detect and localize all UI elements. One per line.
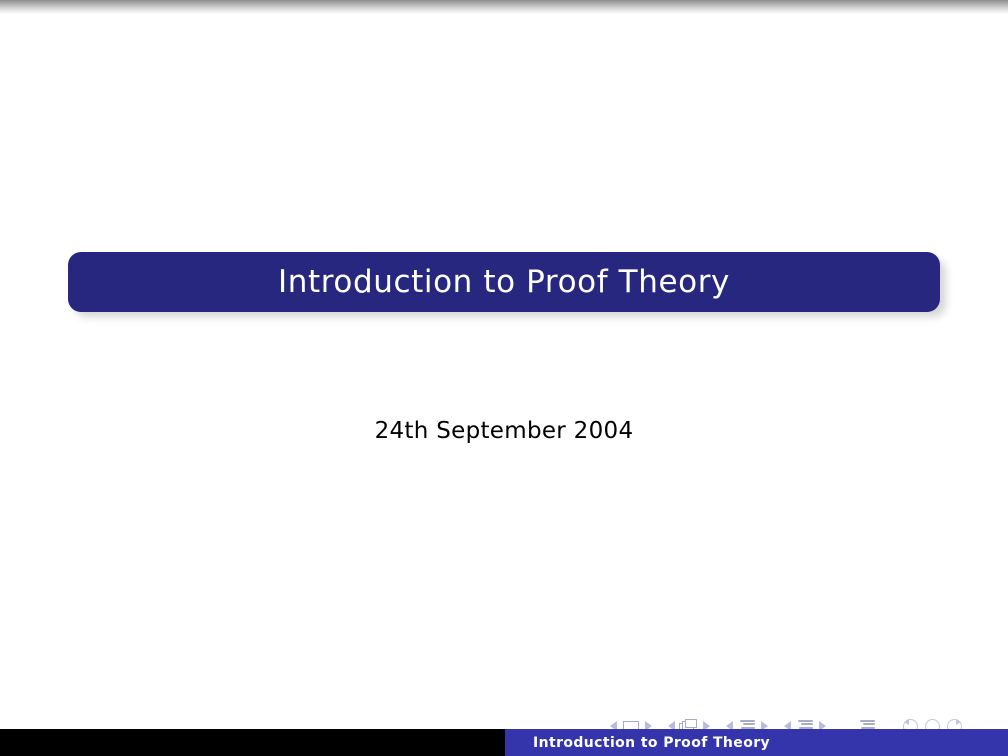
footer-left-block [0, 729, 505, 756]
page-title: Introduction to Proof Theory [278, 267, 730, 298]
slide-date: 24th September 2004 [0, 418, 1008, 444]
top-edge-gradient [0, 0, 1008, 14]
footer-right-block: Introduction to Proof Theory [505, 729, 1008, 756]
footer-title: Introduction to Proof Theory [533, 735, 770, 751]
footer-bar: Introduction to Proof Theory [0, 729, 1008, 756]
slide-canvas: Introduction to Proof Theory 24th Septem… [0, 14, 1008, 729]
title-box: Introduction to Proof Theory [68, 252, 940, 312]
